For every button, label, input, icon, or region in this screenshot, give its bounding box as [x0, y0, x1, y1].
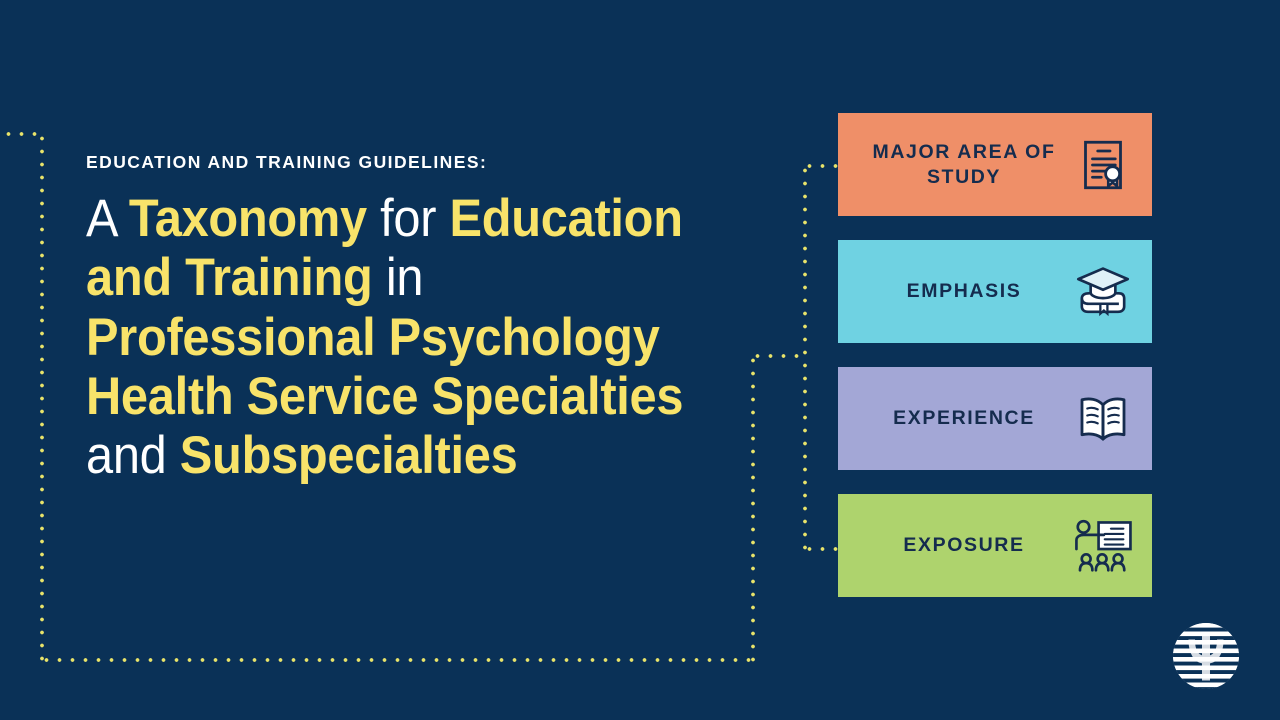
eyebrow-text: EDUCATION AND TRAINING GUIDELINES:: [86, 152, 786, 173]
apa-logo: [1170, 620, 1242, 692]
title-segment: Professional Psychology Health Service S…: [86, 308, 683, 426]
card-major-area-of-study[interactable]: MAJOR AREA OF STUDY: [838, 113, 1152, 216]
open-book-icon: [1072, 388, 1134, 450]
card-emphasis[interactable]: EMPHASIS: [838, 240, 1152, 343]
title-segment: Subspecialties: [180, 426, 518, 485]
slide-canvas: EDUCATION AND TRAINING GUIDELINES: A Tax…: [0, 0, 1280, 720]
certificate-icon: [1072, 134, 1134, 196]
dotted-path-to-exposure: [803, 547, 839, 551]
title-segment: and: [86, 426, 180, 485]
card-label-exposure: EXPOSURE: [846, 533, 1072, 558]
dotted-path-right-vertical: [803, 164, 807, 550]
title-segment: in: [386, 248, 423, 307]
presentation-audience-icon: [1072, 515, 1134, 577]
page-title: A Taxonomy for Education and Training in…: [86, 189, 693, 486]
card-label-major-area-of-study: MAJOR AREA OF STUDY: [846, 140, 1072, 190]
title-segment: A: [86, 189, 129, 248]
dotted-path-bottom: [40, 658, 754, 662]
card-experience[interactable]: EXPERIENCE: [838, 367, 1152, 470]
card-label-experience: EXPERIENCE: [846, 406, 1072, 431]
title-segment: Taxonomy: [129, 189, 380, 248]
dotted-path-top-left: [2, 132, 44, 136]
title-block: EDUCATION AND TRAINING GUIDELINES: A Tax…: [86, 152, 786, 486]
title-segment: for: [380, 189, 449, 248]
graduation-cap-book-icon: [1072, 261, 1134, 323]
dotted-path-left-vertical: [40, 132, 44, 662]
card-exposure[interactable]: EXPOSURE: [838, 494, 1152, 597]
dotted-path-to-major-area: [803, 164, 839, 168]
card-label-emphasis: EMPHASIS: [846, 279, 1072, 304]
